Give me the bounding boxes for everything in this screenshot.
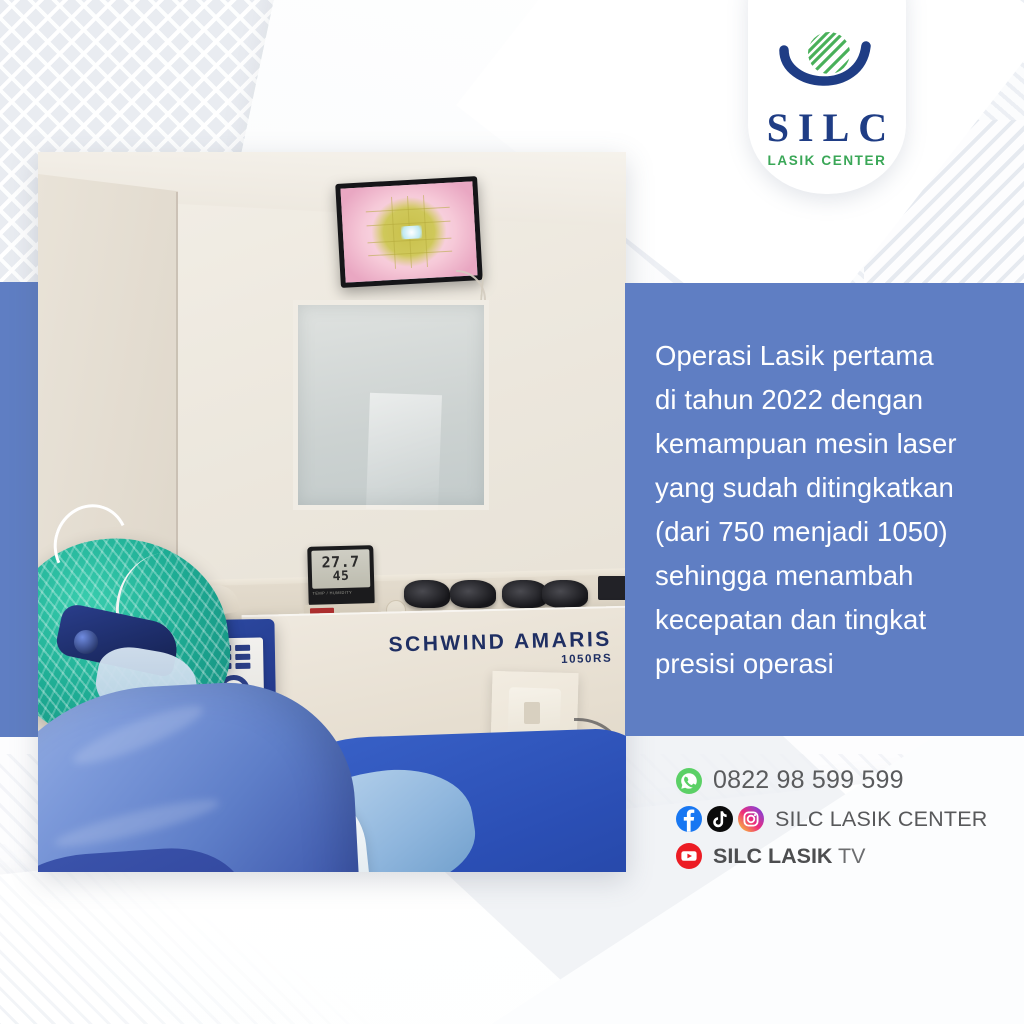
headline-line: (dari 750 menjadi 1050) (655, 510, 957, 554)
eye-shield-4 (542, 580, 588, 608)
headline-line: kemampuan mesin laser (655, 422, 957, 466)
contact-block: 0822 98 599 599 SILC LASIK C (676, 766, 1006, 869)
social-row[interactable]: SILC LASIK CENTER (676, 806, 1006, 832)
loupe-lens (74, 630, 98, 654)
left-accent-bar (0, 282, 38, 737)
whatsapp-icon[interactable] (676, 768, 702, 794)
social-handle[interactable]: SILC LASIK CENTER (775, 807, 988, 832)
tiktok-icon[interactable] (707, 806, 733, 832)
whatsapp-number[interactable]: 0822 98 599 599 (713, 766, 904, 795)
youtube-icon[interactable] (676, 843, 702, 869)
headline-line: presisi operasi (655, 642, 957, 686)
headline-panel: Operasi Lasik pertama di tahun 2022 deng… (625, 283, 1024, 736)
silc-eye-swoosh-icon (774, 26, 880, 106)
thermometer-temp-value: 27.7 (321, 555, 359, 570)
logo-tagline: LASIK CENTER (768, 153, 887, 168)
facebook-icon[interactable] (676, 806, 702, 832)
operating-room-photo: 27.7 45 TEMP / HUMIDITY SCHWIND AMARIS 1… (38, 152, 626, 872)
youtube-row[interactable]: SILC LASIK TV (676, 843, 1006, 869)
headline-text: Operasi Lasik pertama di tahun 2022 deng… (625, 334, 985, 686)
eye-shield-1 (404, 580, 450, 608)
logo-wordmark: SILC (758, 108, 896, 148)
youtube-channel-rest: TV (832, 844, 865, 868)
headline-line: di tahun 2022 dengan (655, 378, 957, 422)
thermometer-label: TEMP / HUMIDITY (312, 590, 370, 597)
youtube-channel-bold: SILC LASIK (713, 844, 832, 868)
instagram-icon[interactable] (738, 806, 764, 832)
thermometer-humidity-value: 45 (333, 570, 350, 583)
headline-line: yang sudah ditingkatkan (655, 466, 957, 510)
laser-arm-slot (524, 702, 540, 724)
equipment-box (598, 576, 626, 600)
headline-line: sehingga menambah (655, 554, 957, 598)
window-glare (366, 393, 442, 511)
digital-thermometer: 27.7 45 TEMP / HUMIDITY (307, 545, 375, 607)
headline-line: kecepatan dan tingkat (655, 598, 957, 642)
eye-shield-2 (450, 580, 496, 608)
headline-line: Operasi Lasik pertama (655, 334, 957, 378)
corneal-topography-screen (340, 181, 477, 282)
logo-badge: SILC LASIK CENTER (748, 0, 906, 194)
whatsapp-row[interactable]: 0822 98 599 599 (676, 766, 1006, 795)
thermometer-lcd: 27.7 45 (311, 549, 370, 589)
youtube-channel[interactable]: SILC LASIK TV (713, 844, 866, 869)
